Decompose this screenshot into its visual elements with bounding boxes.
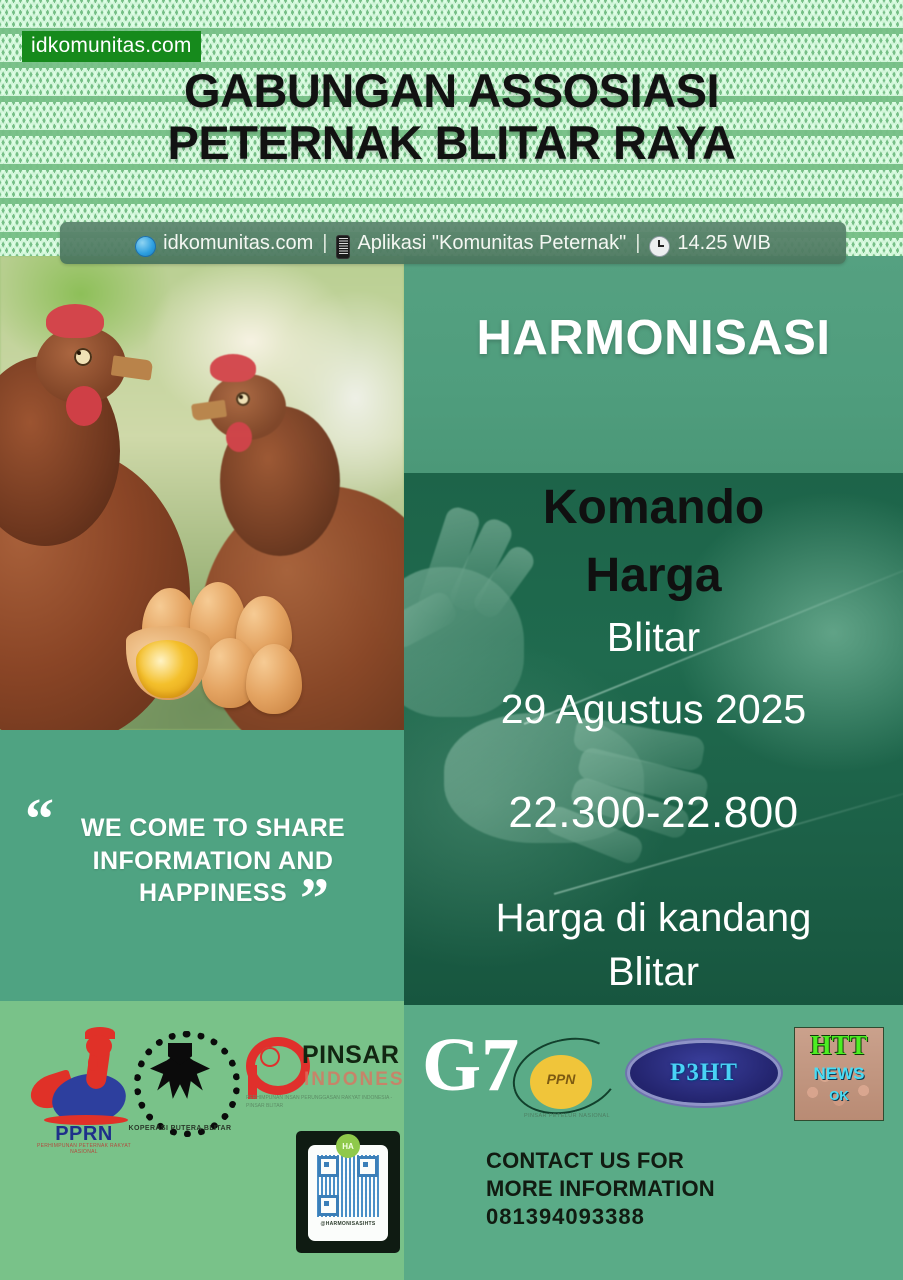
title-line-2: PETERNAK BLITAR RAYA [0, 120, 903, 165]
price-note-line-2: Blitar [404, 950, 903, 995]
koperasi-putera-blitar-logo: KOPERASI PUTERA BLITAR [128, 1029, 232, 1141]
globe-icon [135, 236, 156, 257]
quote-line-1: WE COME TO SHARE [48, 812, 378, 845]
pinsar-indonesia-logo: PINSAR INDONESIA PERHIMPUNAN INSAN PERUN… [244, 1037, 404, 1127]
partner-logos-right: G7 PPN PINSAR PETELUR NASIONAL P3HT HTT … [404, 1005, 903, 1280]
contact-phone-number[interactable]: 081394093388 [486, 1203, 715, 1231]
p3ht-logo: P3HT [630, 1043, 778, 1103]
qr-code-icon [317, 1155, 379, 1217]
partner-logos-left: PPRN PERHIMPUNAN PETERNAK RAKYAT NASIONA… [0, 1001, 404, 1280]
harga-label: Harga [404, 552, 903, 601]
qr-caption: @HARMONISASIHTS [308, 1221, 388, 1227]
contact-line-2: MORE INFORMATION [486, 1175, 715, 1203]
pprn-head-shape [86, 1035, 112, 1057]
pprn-logo-sublabel: PERHIMPUNAN PETERNAK RAKYAT NASIONAL [30, 1143, 138, 1155]
p3ht-logo-label: P3HT [630, 1043, 778, 1103]
pinsar-logo-tagline: PERHIMPUNAN INSAN PERUNGGASAN RAKYAT IND… [246, 1095, 404, 1110]
city-label: Blitar [404, 614, 903, 661]
quote-close-icon: ” [300, 870, 329, 928]
pinsar-p-mark [244, 1037, 296, 1099]
hens-and-eggs-photo [0, 256, 404, 730]
ppn-logo: PPN PINSAR PETELUR NASIONAL [512, 1035, 622, 1133]
qr-code-card[interactable]: @HARMONISASIHTS HA [296, 1131, 400, 1253]
price-range-value: 22.300-22.800 [404, 788, 903, 838]
watermark-badge: idkomunitas.com [22, 31, 201, 62]
title-line-1: GABUNGAN ASSOSIASI [184, 64, 719, 117]
pprn-wattle-shape [88, 1055, 98, 1071]
contact-line-1: CONTACT US FOR [486, 1147, 715, 1175]
ppn-logo-tagline: PINSAR PETELUR NASIONAL [512, 1113, 622, 1119]
eggs-group [118, 582, 318, 717]
ppn-logo-label: PPN [530, 1071, 592, 1087]
info-app-name: Aplikasi "Komunitas Peternak" [357, 232, 626, 255]
contact-block: CONTACT US FOR MORE INFORMATION 08139409… [486, 1147, 715, 1231]
qr-avatar-badge: HA [336, 1134, 360, 1158]
qr-card-inner: @HARMONISASIHTS [308, 1145, 388, 1241]
harmonisasi-band: HARMONISASI [404, 256, 903, 473]
poster-canvas: idkomunitas.com GABUNGAN ASSOSIASI PETER… [0, 0, 903, 1280]
info-separator-2: | [633, 232, 642, 255]
page-title: GABUNGAN ASSOSIASI PETERNAK BLITAR RAYA [0, 68, 903, 165]
htt-news-logo: HTT NEWS OK [794, 1027, 884, 1121]
htt-news-label: NEWS [795, 1064, 883, 1084]
price-note-line-1: Harga di kandang [404, 896, 903, 941]
info-separator-1: | [320, 232, 329, 255]
pinsar-logo-sublabel: INDONESIA [304, 1069, 404, 1091]
htt-logo-label: HTT [795, 1030, 883, 1061]
pprn-logo: PPRN PERHIMPUNAN PETERNAK RAKYAT NASIONA… [30, 1029, 138, 1141]
koperasi-logo-label: KOPERASI PUTERA BLITAR [128, 1125, 232, 1132]
clock-icon [649, 236, 670, 257]
date-label: 29 Agustus 2025 [404, 686, 903, 733]
info-website: idkomunitas.com [163, 232, 313, 255]
htt-ok-label: OK [795, 1088, 883, 1103]
quote-panel: “ WE COME TO SHARE INFORMATION AND HAPPI… [0, 730, 404, 1001]
g7-logo: G7 [422, 1027, 519, 1103]
info-bar: idkomunitas.com | Aplikasi "Komunitas Pe… [60, 222, 846, 264]
pinsar-logo-label: PINSAR [302, 1041, 399, 1070]
info-time: 14.25 WIB [677, 232, 770, 255]
komando-label: Komando [404, 484, 903, 533]
harmonisasi-heading: HARMONISASI [477, 310, 831, 366]
mobile-phone-icon [336, 235, 350, 259]
